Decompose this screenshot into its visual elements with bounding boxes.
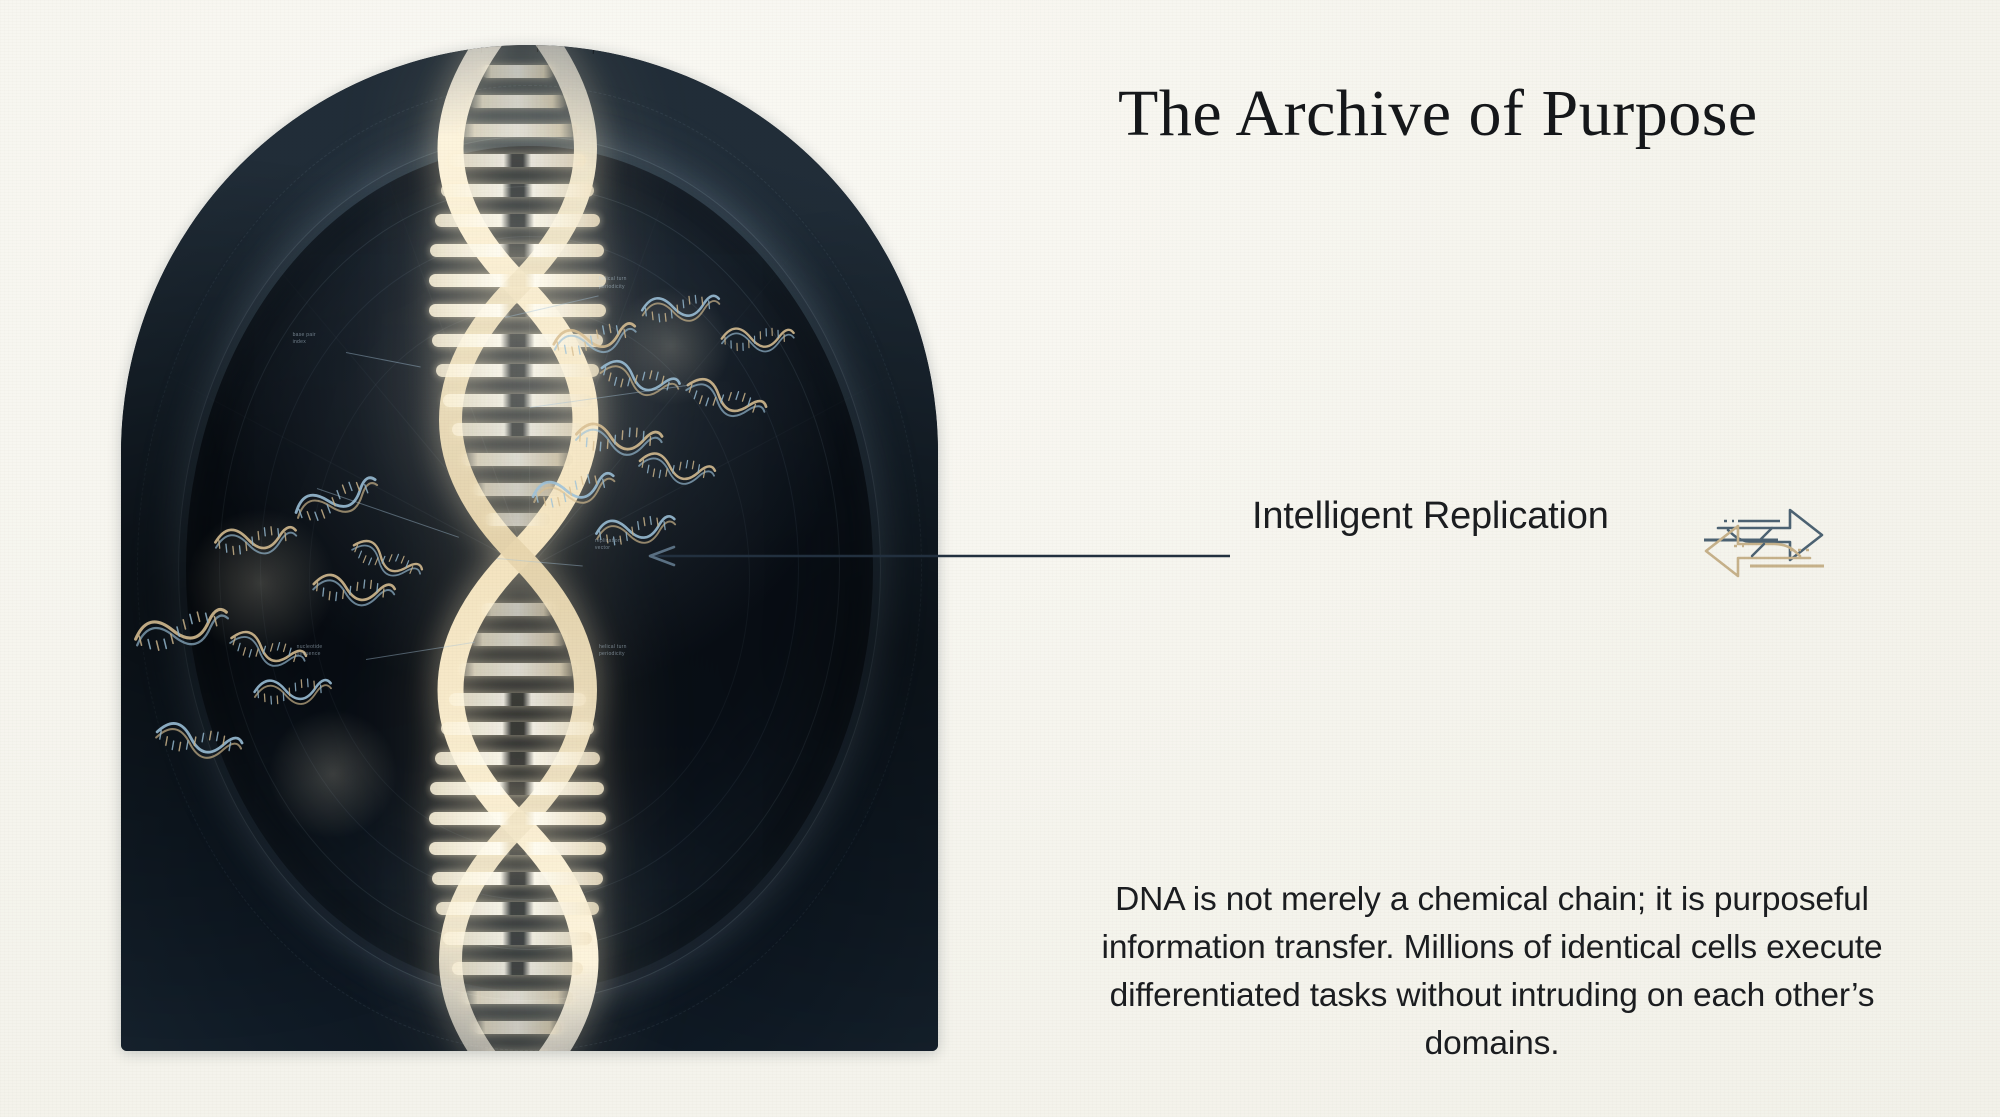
base-pair-rung xyxy=(469,95,565,108)
arch-tick xyxy=(812,86,815,93)
base-pair-rung xyxy=(436,364,598,377)
dna-illustration-panel: base pair index helical turn periodicity… xyxy=(121,45,938,1051)
rna-strand xyxy=(718,320,796,358)
arch-tick xyxy=(703,60,705,67)
base-pair-rung xyxy=(436,902,598,915)
base-pair-rung xyxy=(458,663,576,676)
arch-tick xyxy=(205,98,208,105)
base-pair-rung xyxy=(430,244,604,257)
base-pair-rung xyxy=(429,274,607,287)
base-pair-rung xyxy=(441,722,595,735)
page-title: The Archive of Purpose xyxy=(1118,76,1938,152)
base-pair-rung xyxy=(452,962,584,975)
base-pair-rung xyxy=(432,872,604,885)
base-pair-rung xyxy=(469,633,565,646)
panel-annotation: helical turn periodicity xyxy=(599,644,627,659)
base-pair-rung xyxy=(458,124,576,137)
base-pair-rung xyxy=(481,603,553,616)
base-pair-rung xyxy=(473,1021,562,1034)
base-pair-rung xyxy=(449,154,587,167)
panel-annotation: nucleotide sequence xyxy=(297,644,323,659)
base-pair-rung xyxy=(481,65,553,78)
base-pair-rung xyxy=(435,752,601,765)
base-pair-rung xyxy=(441,184,595,197)
base-pair-rung xyxy=(449,693,587,706)
rna-strand xyxy=(250,669,334,712)
arch-tick xyxy=(313,68,315,75)
body-paragraph: DNA is not merely a chemical chain; it i… xyxy=(1092,876,1892,1068)
panel-annotation: replication vector xyxy=(595,538,621,553)
base-pair-rung xyxy=(443,932,592,945)
arch-tick xyxy=(865,103,868,110)
panel-annotation: helical turn periodicity xyxy=(599,276,627,291)
arch-tick xyxy=(758,72,761,79)
base-pair-rung xyxy=(452,423,584,436)
base-pair-rung xyxy=(443,394,592,407)
base-pair-rung xyxy=(462,991,573,1004)
base-pair-rung xyxy=(429,842,606,855)
arch-tick xyxy=(153,118,157,125)
exchange-arrows-icon xyxy=(1694,488,1834,598)
base-pair-rung xyxy=(430,782,604,795)
arch-tick xyxy=(259,82,262,89)
base-pair-rung xyxy=(435,214,601,227)
base-pair-rung xyxy=(429,812,607,825)
slide-canvas: base pair index helical turn periodicity… xyxy=(0,0,2000,1117)
callout-label: Intelligent Replication xyxy=(1252,495,1609,538)
base-pair-rung xyxy=(462,453,573,466)
arch-tick xyxy=(917,124,921,131)
panel-annotation: base pair index xyxy=(293,332,316,347)
